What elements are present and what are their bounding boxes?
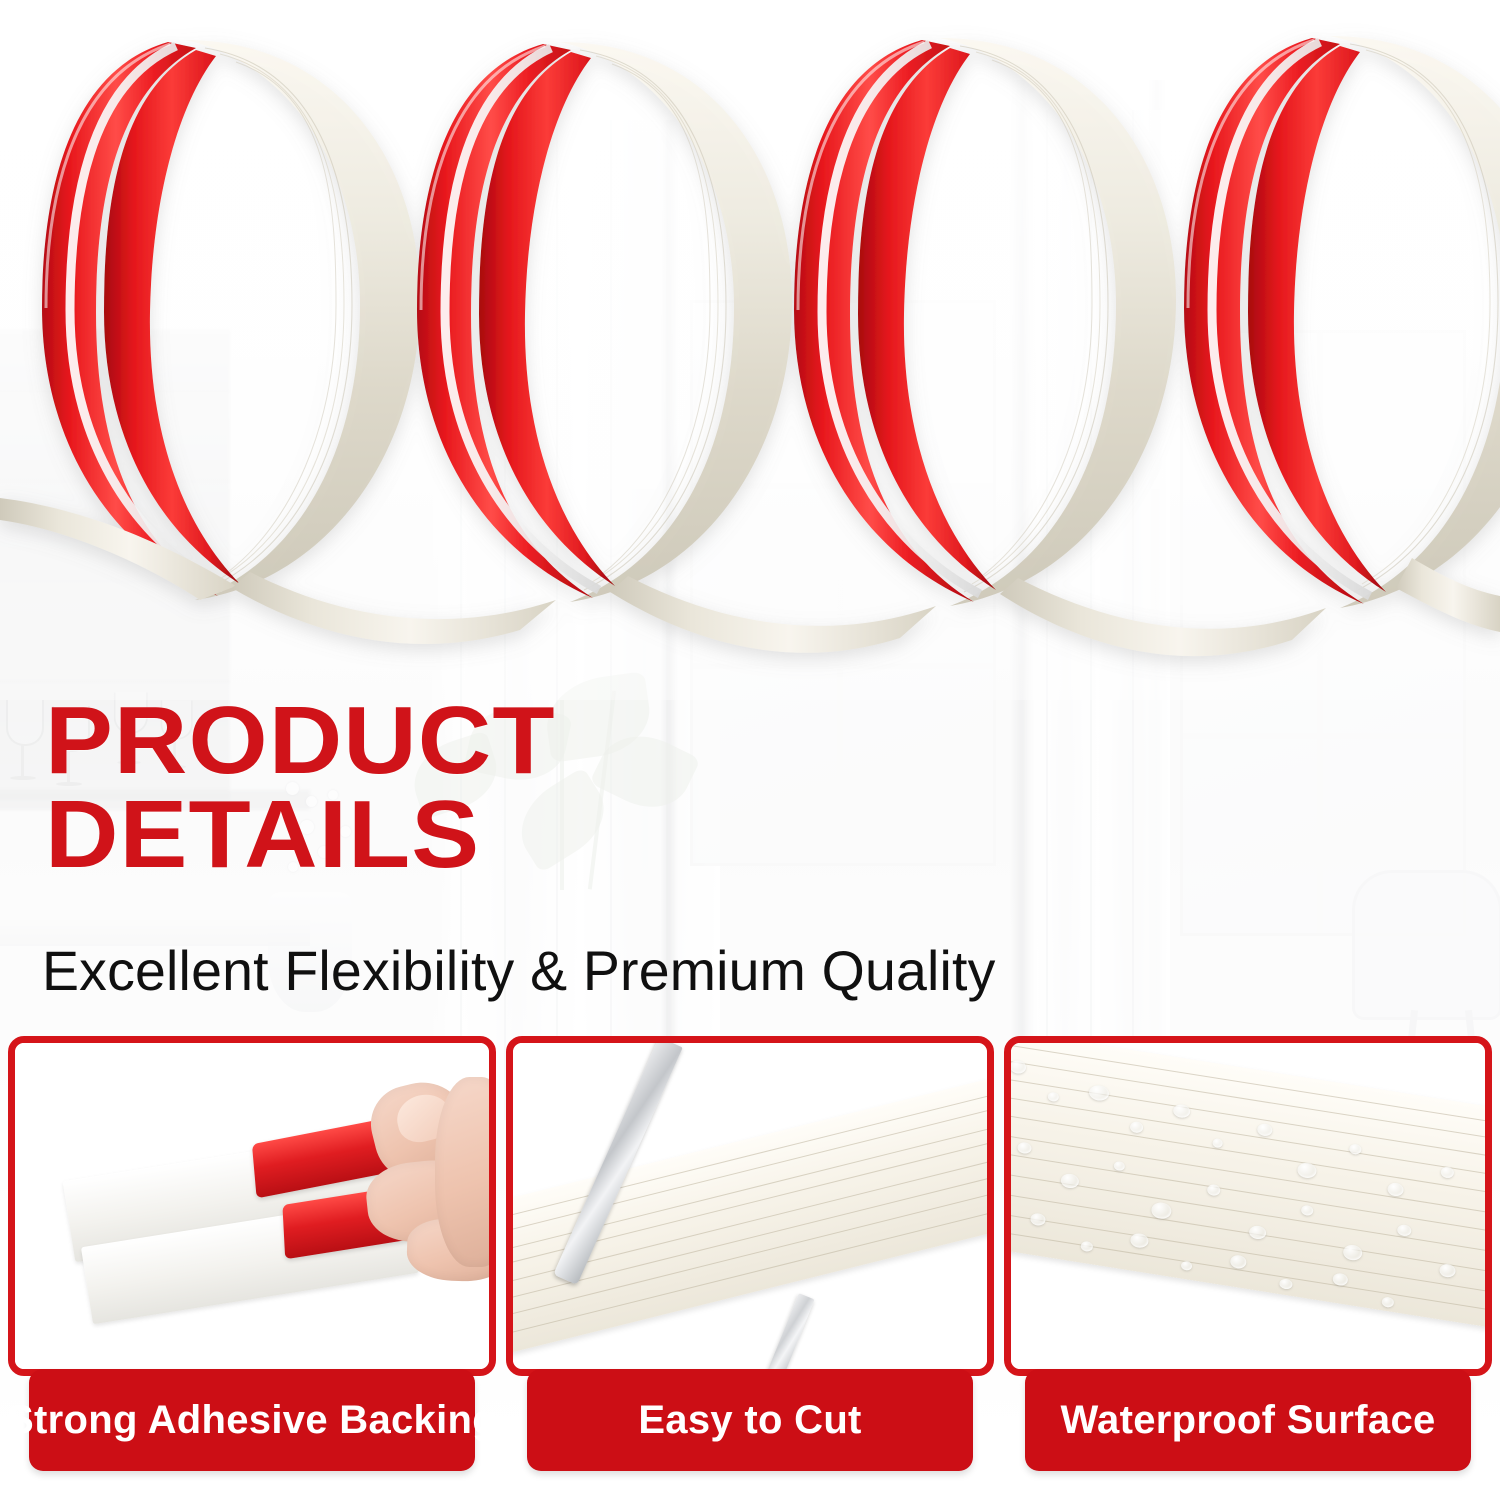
feature-caption-strong-adhesive-backing: Strong Adhesive Backing <box>29 1369 475 1471</box>
page-title: PRODUCT DETAILS <box>45 694 1296 882</box>
feature-caption-easy-to-cut: Easy to Cut <box>527 1369 973 1471</box>
page-title-line-1: PRODUCT <box>45 687 556 794</box>
feature-card-waterproof-surface[interactable]: Waterproof Surface <box>1004 1036 1492 1376</box>
coiled-banding-illustration <box>0 0 1500 740</box>
feature-image-waterproof <box>1011 1043 1485 1369</box>
feature-card-strong-adhesive-backing[interactable]: Strong Adhesive Backing <box>8 1036 496 1376</box>
feature-card-easy-to-cut[interactable]: Easy to Cut <box>506 1036 994 1376</box>
page-subtitle: Excellent Flexibility & Premium Quality <box>42 938 996 1003</box>
feature-panel-row: Strong Adhesive Backing <box>8 1036 1492 1496</box>
page-title-line-2: DETAILS <box>45 788 1296 882</box>
product-detail-image: PRODUCT DETAILS Excellent Flexibility & … <box>0 0 1500 1500</box>
feature-caption-waterproof-surface: Waterproof Surface <box>1025 1369 1471 1471</box>
feature-image-adhesive-peel <box>15 1043 489 1369</box>
page-title-block: PRODUCT DETAILS <box>45 694 1225 882</box>
feature-image-cutting <box>513 1043 987 1369</box>
